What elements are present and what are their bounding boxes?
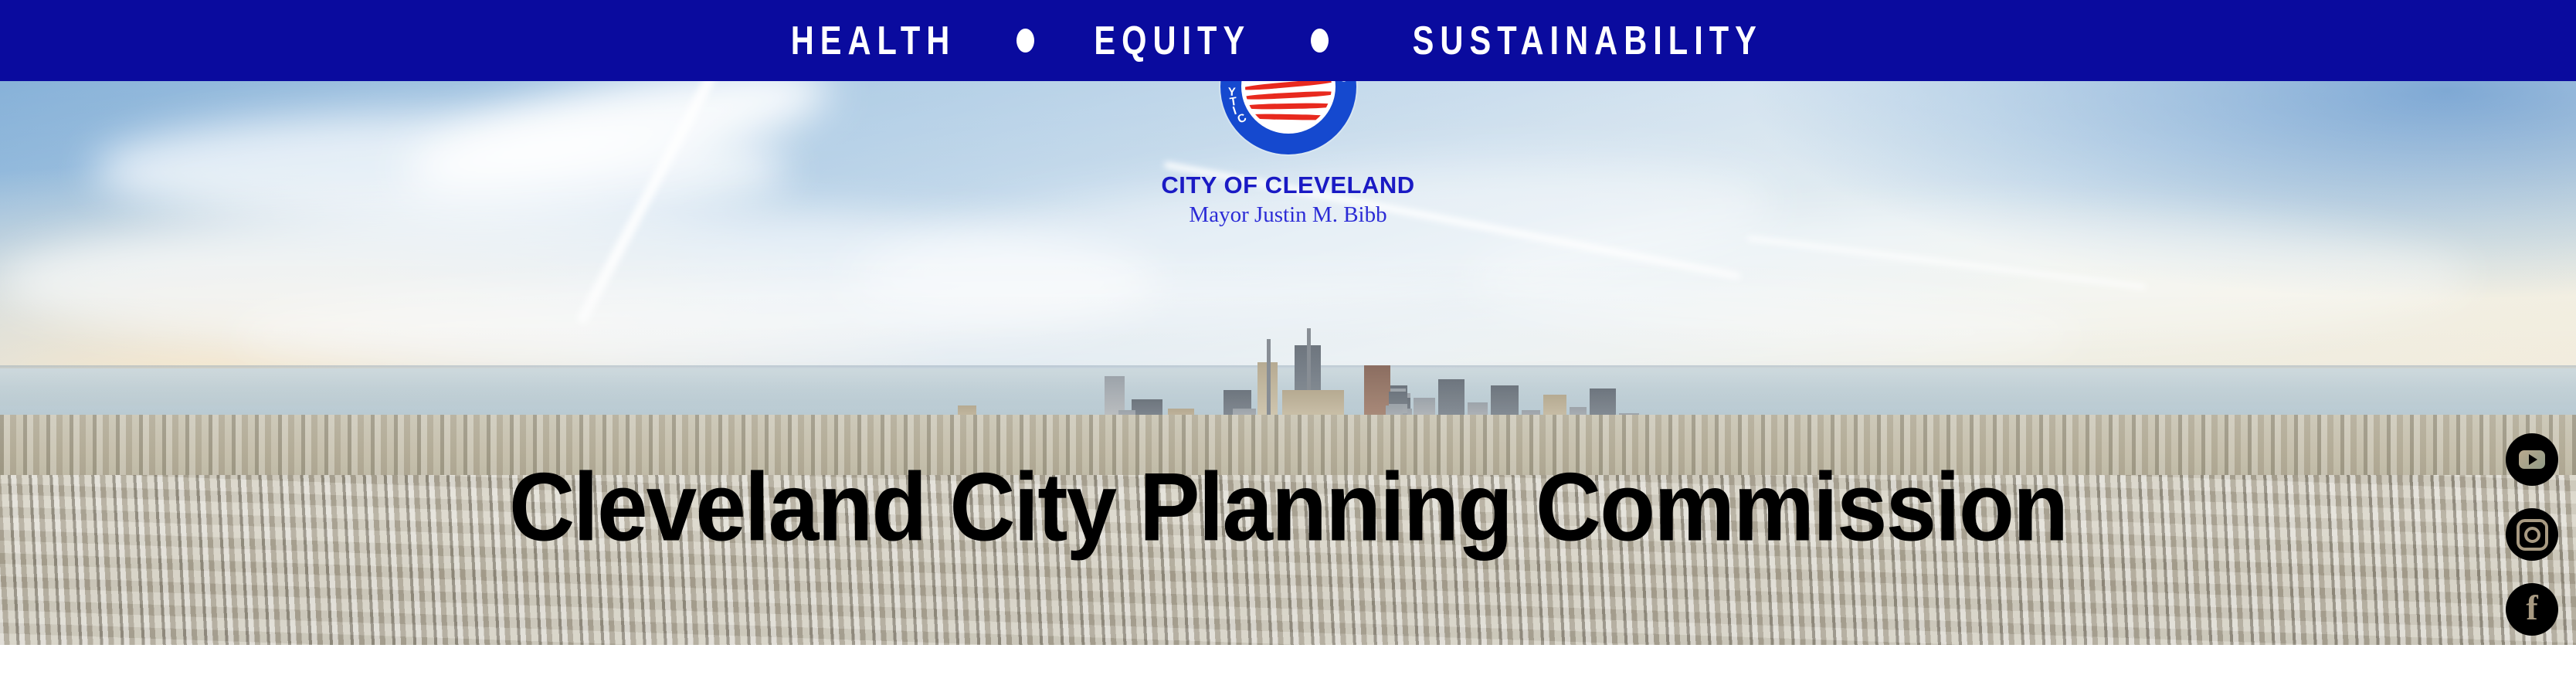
facebook-icon: f — [2526, 590, 2537, 626]
instagram-icon — [2517, 519, 2548, 551]
page-root: HEALTH EQUITY SUSTAINABILITY — [0, 0, 2576, 682]
page-title: Cleveland City Planning Commission — [0, 462, 2576, 553]
tagline-banner-inner: HEALTH EQUITY SUSTAINABILITY — [770, 21, 1806, 61]
instagram-link[interactable] — [2506, 508, 2558, 561]
page-title-text: Cleveland City Planning Commission — [509, 459, 2067, 555]
social-links-rail: f — [2506, 433, 2558, 636]
tagline-word-equity: EQUITY — [1094, 21, 1251, 61]
facebook-link[interactable]: f — [2506, 583, 2558, 636]
youtube-icon — [2519, 450, 2545, 469]
tagline-word-sustainability: SUSTAINABILITY — [1412, 21, 1762, 61]
bullet-dot-icon — [1311, 29, 1329, 53]
bullet-dot-icon — [1016, 29, 1034, 53]
mayor-name: Mayor Justin M. Bibb — [0, 203, 2576, 228]
youtube-link[interactable] — [2506, 433, 2558, 486]
tagline-banner: HEALTH EQUITY SUSTAINABILITY — [0, 0, 2576, 81]
city-wordmark: CITY OF CLEVELAND — [0, 172, 2576, 198]
tagline-word-health: HEALTH — [791, 21, 956, 61]
